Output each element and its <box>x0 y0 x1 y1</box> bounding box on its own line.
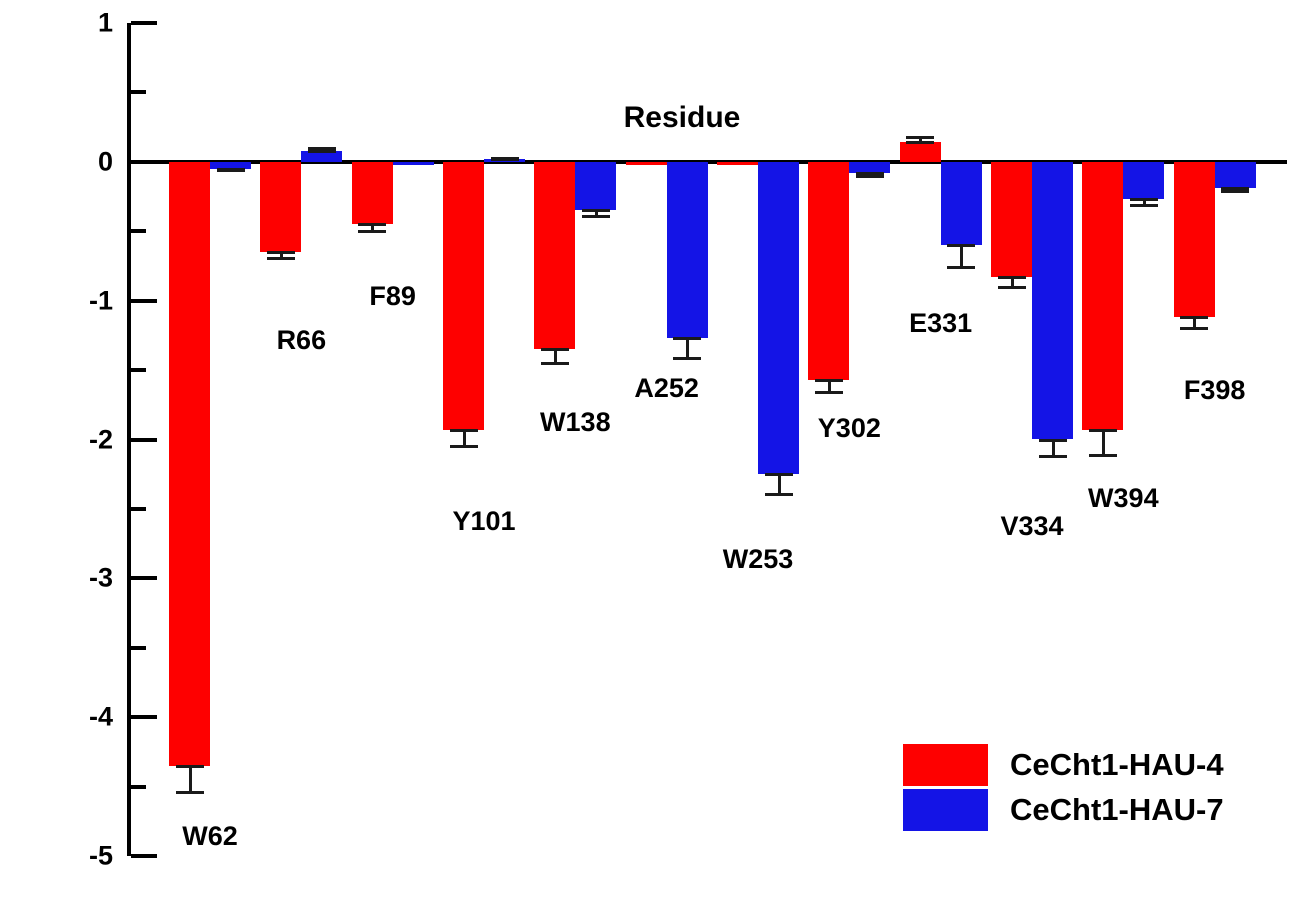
bar-Y302-hau4 <box>808 162 849 380</box>
bar-W138-hau7 <box>575 162 616 211</box>
x-axis-category-label-Y302: Y302 <box>818 413 881 444</box>
bar-E331-hau7 <box>941 162 982 245</box>
x-axis-category-label-W253: W253 <box>723 544 794 575</box>
error-bar-cap <box>176 765 204 768</box>
y-axis-tick-label: 0 <box>98 146 113 177</box>
bar-V334-hau7 <box>1032 162 1073 440</box>
error-bar-cap <box>176 791 204 794</box>
error-bar <box>1052 440 1055 457</box>
error-bar-cap <box>673 357 701 360</box>
x-axis-category-label-W138: W138 <box>540 407 611 438</box>
bar-F398-hau4 <box>1174 162 1215 317</box>
legend-swatch-blue <box>903 789 988 831</box>
bar-W253-hau7 <box>758 162 799 474</box>
plot-area: 10-1-2-3-4-5 W62R66F89Y101W138A252W253Y3… <box>127 23 1287 856</box>
bar-E331-hau4 <box>900 142 941 161</box>
bar-W394-hau4 <box>1082 162 1123 430</box>
legend-label-1: CeCht1-HAU-7 <box>1010 792 1224 828</box>
x-axis-category-label-F398: F398 <box>1184 375 1246 406</box>
error-bar-cap <box>450 445 478 448</box>
bar-F89-hau4 <box>352 162 393 224</box>
bar-V334-hau4 <box>991 162 1032 277</box>
error-bar-cap <box>947 266 975 269</box>
error-bar <box>463 430 466 447</box>
y-axis-tick-label: -1 <box>89 285 113 316</box>
error-bar-cap <box>582 209 610 212</box>
bar-Y101-hau4 <box>443 162 484 430</box>
error-bar-cap <box>1221 190 1249 193</box>
x-axis-title: Residue <box>624 101 741 135</box>
bar-W394-hau7 <box>1123 162 1164 199</box>
x-axis-category-label-W62: W62 <box>182 821 238 852</box>
error-bar-cap <box>1039 455 1067 458</box>
error-bar-cap <box>815 379 843 382</box>
bar-F89-hau7 <box>393 162 434 165</box>
bars-layer: W62R66F89Y101W138A252W253Y302E331V334W39… <box>127 23 1287 856</box>
bar-W138-hau4 <box>534 162 575 349</box>
y-axis-tick-label: -2 <box>89 424 113 455</box>
x-axis-category-label-W394: W394 <box>1088 483 1159 514</box>
bar-R66-hau4 <box>260 162 301 252</box>
error-bar-cap <box>1089 429 1117 432</box>
x-axis-category-label-A252: A252 <box>634 373 699 404</box>
error-bar-cap <box>541 362 569 365</box>
x-axis-category-label-E331: E331 <box>909 308 972 339</box>
error-bar-cap <box>947 244 975 247</box>
bar-A252-hau7 <box>667 162 708 338</box>
error-bar-cap <box>765 473 793 476</box>
error-bar-cap <box>308 150 336 153</box>
bar-W62-hau4 <box>169 162 210 766</box>
error-bar-cap <box>267 257 295 260</box>
error-bar <box>686 338 689 357</box>
error-bar-cap <box>1130 198 1158 201</box>
error-bar <box>1102 430 1105 455</box>
error-bar <box>960 245 963 267</box>
error-bar-cap <box>998 286 1026 289</box>
error-bar-cap <box>267 251 295 254</box>
error-bar-cap <box>1180 316 1208 319</box>
error-bar-cap <box>906 136 934 139</box>
error-bar-cap <box>673 337 701 340</box>
error-bar-cap <box>541 348 569 351</box>
x-axis-category-label-Y101: Y101 <box>452 506 515 537</box>
bar-F398-hau7 <box>1215 162 1256 188</box>
error-bar-cap <box>491 158 519 161</box>
chart-canvas: Interaction energy (kcal/mol) 10-1-2-3-4… <box>0 0 1297 905</box>
error-bar-cap <box>906 141 934 144</box>
error-bar-cap <box>856 175 884 178</box>
error-bar-cap <box>815 391 843 394</box>
x-axis-category-label-F89: F89 <box>369 281 416 312</box>
error-bar-cap <box>1039 439 1067 442</box>
error-bar-cap <box>358 223 386 226</box>
y-axis-title: Interaction energy (kcal/mol) <box>0 0 62 64</box>
error-bar-cap <box>450 429 478 432</box>
y-axis-tick-label: 1 <box>98 8 113 39</box>
legend-item-0[interactable]: CeCht1-HAU-4 <box>903 742 1224 787</box>
bar-W253-hau4 <box>717 162 758 165</box>
legend: CeCht1-HAU-4 CeCht1-HAU-7 <box>903 742 1224 832</box>
bar-A252-hau4 <box>626 162 667 165</box>
error-bar-cap <box>217 169 245 172</box>
error-bar-cap <box>1180 327 1208 330</box>
error-bar <box>189 766 192 792</box>
x-axis-category-label-R66: R66 <box>277 325 327 356</box>
legend-item-1[interactable]: CeCht1-HAU-7 <box>903 787 1224 832</box>
y-axis-tick-label: -5 <box>89 841 113 872</box>
error-bar-cap <box>998 276 1026 279</box>
legend-label-0: CeCht1-HAU-4 <box>1010 747 1224 783</box>
error-bar-cap <box>1130 204 1158 207</box>
y-axis-tick-label: -3 <box>89 563 113 594</box>
error-bar <box>554 349 557 363</box>
x-axis-category-label-V334: V334 <box>1000 511 1063 542</box>
error-bar <box>778 474 781 493</box>
error-bar-cap <box>582 215 610 218</box>
y-axis-tick-label: -4 <box>89 702 113 733</box>
legend-swatch-red <box>903 744 988 786</box>
error-bar-cap <box>1089 454 1117 457</box>
error-bar-cap <box>358 230 386 233</box>
error-bar-cap <box>765 493 793 496</box>
